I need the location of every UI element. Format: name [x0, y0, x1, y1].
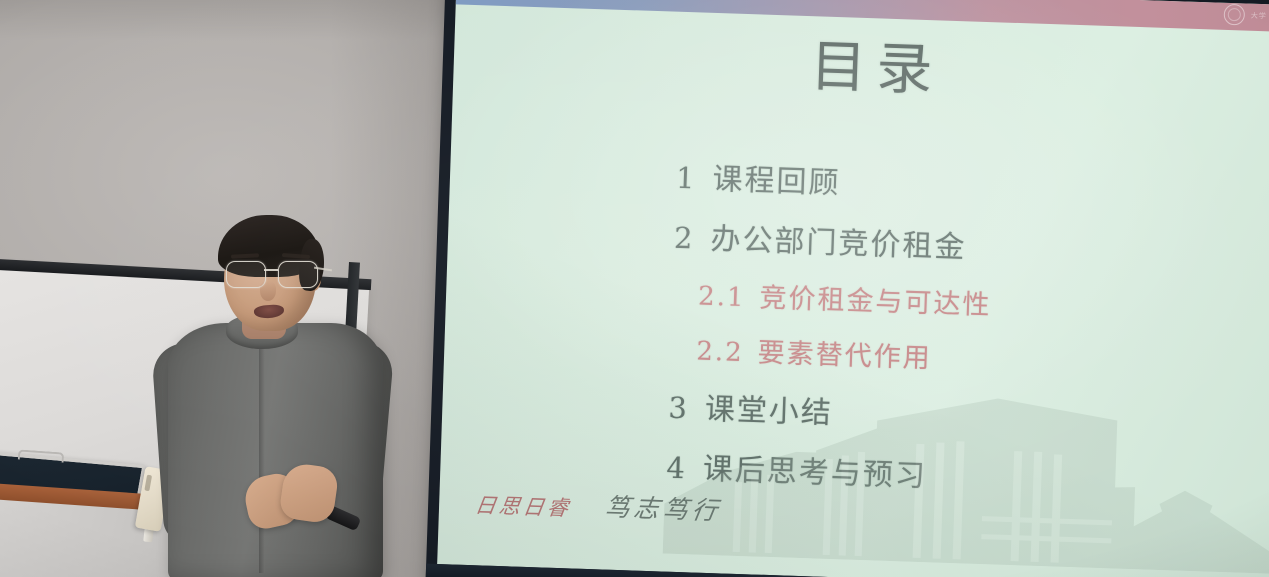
presentation-slide: 大学 目录 1 课程回顾 2 办公部门竞价租金 2	[437, 0, 1269, 577]
toc-item: 4 课后思考与预习	[666, 443, 987, 498]
toc-number: 2	[674, 221, 694, 256]
hand-right	[278, 462, 339, 525]
toc-number: 4	[666, 451, 686, 486]
lecturer-hands	[246, 465, 338, 539]
toc-number: 1	[676, 161, 696, 196]
university-seal-logo: 大学	[1223, 4, 1267, 26]
lecturer	[150, 215, 400, 577]
glasses-lens-right	[278, 261, 318, 288]
screen-surface: 大学 目录 1 课程回顾 2 办公部门竞价租金 2	[437, 0, 1269, 577]
motto-red-text: 日思日睿	[473, 489, 573, 522]
logo-text: 大学	[1251, 10, 1267, 21]
slide-title: 目录	[453, 27, 1269, 111]
toc-item: 1 课程回顾	[675, 153, 996, 208]
toc-item: 2 办公部门竞价租金	[673, 213, 994, 268]
toc-item: 3 课堂小结	[668, 383, 989, 438]
toc-label: 竞价租金与可达性	[759, 276, 992, 323]
university-motto: 日思日睿 笃志笃行	[475, 483, 722, 527]
toc-label: 要素替代作用	[757, 331, 932, 376]
table-of-contents: 1 课程回顾 2 办公部门竞价租金 2.1 竞价租金与可达性 2.2 要素替代作…	[666, 153, 996, 497]
toc-label: 课后思考与预习	[702, 444, 927, 495]
slide-banner: 大学	[456, 0, 1269, 32]
motto-gray-text: 笃志笃行	[602, 488, 724, 528]
toc-subitem: 2.2 要素替代作用	[696, 329, 990, 378]
toc-number: 3	[668, 391, 688, 426]
toc-subitem: 2.1 竞价租金与可达性	[698, 274, 992, 323]
glasses-bridge	[264, 269, 278, 271]
toc-number: 2.2	[696, 337, 744, 369]
classroom-photo-scene: 大学 目录 1 课程回顾 2 办公部门竞价租金 2	[0, 0, 1269, 577]
lecturer-nose	[260, 281, 276, 301]
toc-label: 课程回顾	[712, 154, 841, 202]
toc-label: 办公部门竞价租金	[710, 214, 967, 266]
projection-screen: 大学 目录 1 课程回顾 2 办公部门竞价租金 2	[425, 0, 1269, 577]
toc-label: 课堂小结	[704, 384, 833, 432]
seal-circle-icon	[1223, 4, 1245, 26]
toc-number: 2.1	[698, 282, 746, 314]
